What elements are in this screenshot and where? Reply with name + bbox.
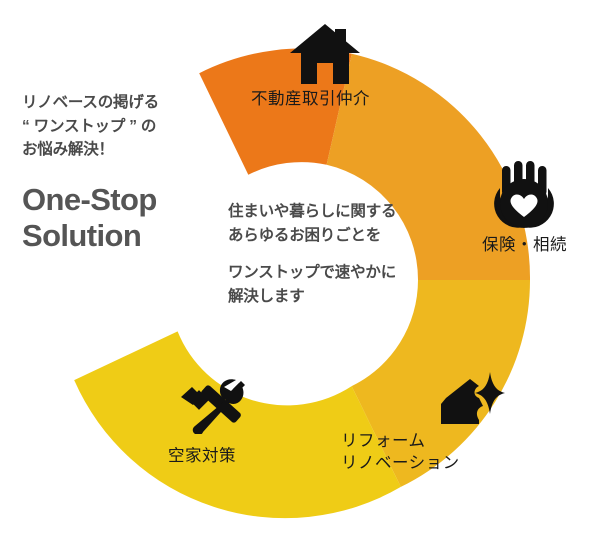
left-copy-block: リノベースの掲げる “ ワンストップ ” の お悩み解決！ One-Stop S… (22, 91, 227, 254)
segment-label-insurance: 保険・相続 (482, 234, 567, 256)
center-copy-block: 住まいや暮らしに関する あらゆるお困りごとを ワンストップで速やかに 解決します (228, 200, 443, 309)
segment-label-vacant: 空家対策 (168, 445, 236, 467)
lead-copy: リノベースの掲げる “ ワンストップ ” の お悩み解決！ (22, 91, 227, 162)
house-icon (289, 23, 361, 85)
infographic-canvas: リノベースの掲げる “ ワンストップ ” の お悩み解決！ One-Stop S… (0, 0, 600, 533)
segment-label-reform: リフォーム リノベーション (341, 430, 460, 475)
center-paragraph-2: ワンストップで速やかに 解決します (228, 261, 443, 309)
page-title: One-Stop Solution (22, 182, 227, 254)
hammer-wrench-icon (179, 378, 245, 434)
hand-heart-icon (494, 160, 554, 228)
segment-label-realestate: 不動産取引仲介 (251, 88, 370, 110)
sparkle-sofa-icon (435, 372, 505, 430)
center-paragraph-1: 住まいや暮らしに関する あらゆるお困りごとを (228, 200, 443, 248)
